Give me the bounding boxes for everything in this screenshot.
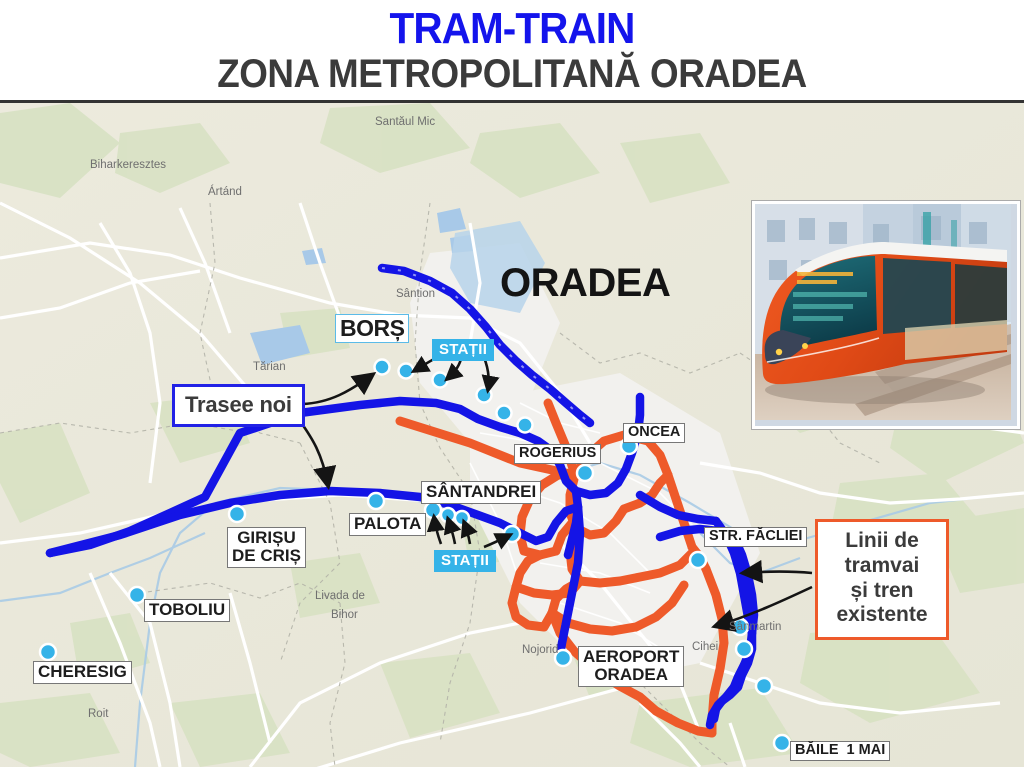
svg-text:Roit: Roit bbox=[88, 708, 109, 720]
svg-text:Biharkeresztes: Biharkeresztes bbox=[90, 159, 166, 171]
callout-trasee-noi[interactable]: Trasee noi bbox=[172, 384, 305, 427]
station-label-str-facliei[interactable]: STR. FĂCLIEI bbox=[704, 527, 807, 547]
station-label-palota[interactable]: PALOTA bbox=[349, 513, 426, 536]
station-label-toboliu[interactable]: TOBOLIU bbox=[144, 599, 230, 622]
svg-text:Tărian: Tărian bbox=[253, 361, 286, 373]
svg-text:Cihei: Cihei bbox=[692, 641, 718, 653]
station-label-cheresig[interactable]: CHERESIG bbox=[33, 661, 132, 684]
station-label-baile-1-mai[interactable]: BĂILE 1 MAI bbox=[790, 741, 890, 761]
infographic-page: TRAM-TRAIN ZONA METROPOLITANĂ ORADEA bbox=[0, 0, 1024, 764]
page-title: TRAM-TRAIN bbox=[41, 4, 983, 54]
station-label-santandrei[interactable]: SÂNTANDREI bbox=[421, 481, 541, 504]
station-label-rogerius[interactable]: ROGERIUS bbox=[514, 444, 601, 464]
callout-linii-existente[interactable]: Linii de tramvai și tren existente bbox=[815, 519, 949, 640]
svg-text:Bihor: Bihor bbox=[331, 609, 358, 621]
statii-badge-south[interactable]: STAȚII bbox=[434, 550, 496, 572]
tram-photo-artwork bbox=[755, 204, 1011, 420]
svg-text:Ártánd: Ártánd bbox=[208, 185, 242, 198]
svg-text:Nojorid: Nojorid bbox=[522, 644, 558, 656]
station-label-bors[interactable]: BORȘ bbox=[335, 314, 409, 343]
station-label-aeroport-oradea[interactable]: AEROPORT ORADEA bbox=[578, 646, 684, 687]
city-label-oradea: ORADEA bbox=[500, 261, 670, 306]
svg-text:Sânmartin: Sânmartin bbox=[729, 621, 781, 633]
map-canvas[interactable]: Santăul Mic Biharkeresztes Ártánd Sântio… bbox=[0, 100, 1024, 767]
tram-photo bbox=[752, 201, 1020, 429]
station-label-oncea[interactable]: ONCEA bbox=[623, 423, 685, 443]
svg-text:Sântion: Sântion bbox=[396, 288, 435, 300]
header: TRAM-TRAIN ZONA METROPOLITANĂ ORADEA bbox=[0, 0, 1024, 100]
station-label-girisu-de-cris[interactable]: GIRIȘU DE CRIȘ bbox=[227, 527, 306, 568]
svg-text:Santăul Mic: Santăul Mic bbox=[375, 116, 435, 128]
statii-badge-north[interactable]: STAȚII bbox=[432, 339, 494, 361]
page-subtitle: ZONA METROPOLITANĂ ORADEA bbox=[41, 52, 983, 97]
svg-text:Livada de: Livada de bbox=[315, 590, 365, 602]
